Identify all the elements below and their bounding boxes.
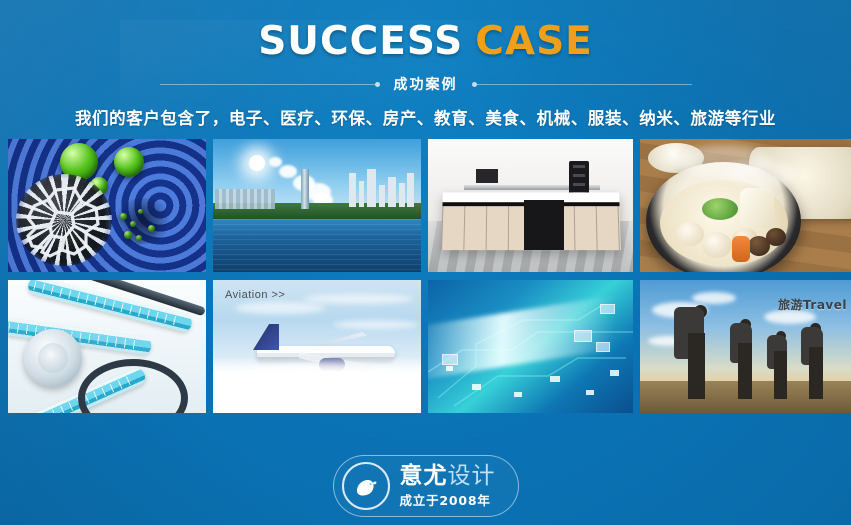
circuit-chip-4 bbox=[596, 342, 610, 352]
gallery-tile-aviation[interactable]: Aviation >> bbox=[213, 280, 421, 413]
stethoscope-chestpiece bbox=[24, 329, 82, 387]
smokestack bbox=[301, 169, 309, 209]
travel-caption: 旅游Travel bbox=[778, 296, 847, 313]
brand-name-light: 设计 bbox=[448, 463, 496, 489]
smoke-puff-4 bbox=[269, 157, 282, 167]
brand-established: 成立于2008年 bbox=[400, 495, 491, 508]
green-particle-4 bbox=[138, 209, 143, 214]
hiker-4 bbox=[798, 315, 832, 399]
sun-glow bbox=[249, 155, 265, 171]
aviation-caption: Aviation >> bbox=[225, 289, 285, 301]
stethoscope-loop bbox=[78, 359, 188, 413]
page-title: SUCCESSCASE bbox=[0, 22, 851, 61]
gallery-tile-travel[interactable]: 旅游Travel bbox=[640, 280, 851, 413]
tagline-text: 我们的客户包含了，电子、医疗、环保、房产、教育、美食、机械、服装、纳米、旅游等行… bbox=[0, 105, 851, 129]
food-chicken-2 bbox=[702, 232, 732, 258]
pixel-fleck-2 bbox=[472, 384, 481, 390]
circuit-chip-2 bbox=[574, 330, 592, 342]
gallery-tile-electronics[interactable] bbox=[428, 280, 633, 413]
green-particle-2 bbox=[130, 221, 136, 227]
medical-image bbox=[8, 280, 206, 413]
food-cabbage bbox=[740, 188, 774, 228]
city-skyline bbox=[215, 189, 275, 209]
pixel-fleck-1 bbox=[446, 366, 453, 371]
aviation-image: Aviation >> bbox=[213, 280, 421, 413]
footer-logo-area: 意尤设计 成立于2008年 bbox=[0, 455, 851, 517]
green-particle-3 bbox=[124, 231, 132, 239]
steam-cloud-2 bbox=[726, 161, 796, 187]
green-sphere-mid bbox=[114, 147, 144, 177]
industrial-plant bbox=[345, 167, 415, 207]
green-particle-5 bbox=[136, 235, 142, 241]
cloud-wisp-1 bbox=[235, 302, 325, 314]
pixel-fleck-3 bbox=[514, 392, 522, 397]
circuit-chip-1 bbox=[442, 354, 458, 365]
pixel-fleck-4 bbox=[550, 376, 560, 382]
hiker-2 bbox=[726, 311, 762, 399]
divider-line-left bbox=[160, 84, 375, 85]
wall-monitor bbox=[476, 169, 498, 183]
green-particle-1 bbox=[120, 213, 127, 220]
subtitle-chinese: 成功案例 bbox=[380, 74, 472, 94]
hiker-1 bbox=[672, 295, 720, 399]
brand-text: 意尤设计 成立于2008年 bbox=[400, 465, 496, 508]
food-chicken-1 bbox=[676, 222, 704, 246]
smoke-puff-3 bbox=[279, 165, 297, 178]
brand-name: 意尤设计 bbox=[400, 465, 496, 488]
gallery-tile-food[interactable] bbox=[640, 139, 851, 272]
food-mushroom-2 bbox=[766, 228, 786, 246]
divider-line-right bbox=[477, 84, 692, 85]
bench-cabinet-dark bbox=[524, 200, 564, 250]
buckyball-cage-icon bbox=[16, 174, 112, 266]
laboratory-furniture-image bbox=[428, 139, 633, 272]
case-gallery-grid: Aviation >> bbox=[0, 139, 851, 413]
cloud-band bbox=[213, 357, 421, 413]
electronics-image bbox=[428, 280, 633, 413]
bird-droplet-logo-icon bbox=[342, 462, 390, 510]
nano-shadow-smear bbox=[112, 198, 174, 244]
subtitle-ornament-row: 成功案例 bbox=[0, 74, 851, 94]
nanotechnology-image bbox=[8, 139, 206, 272]
airplane-tailfin bbox=[253, 324, 279, 350]
gallery-tile-environmental-protection[interactable] bbox=[213, 139, 421, 272]
pixel-fleck-6 bbox=[610, 370, 619, 376]
food-carrot bbox=[732, 236, 750, 262]
title-word-case: CASE bbox=[475, 19, 593, 64]
banner-header: SUCCESSCASE 成功案例 我们的客户包含了，电子、医疗、环保、房产、教育… bbox=[0, 0, 851, 129]
circuit-chip-3 bbox=[600, 304, 615, 314]
hiker-3 bbox=[764, 321, 796, 399]
gallery-tile-nanotechnology[interactable] bbox=[8, 139, 206, 272]
cloud-wisp-2 bbox=[303, 294, 413, 304]
success-case-banner: SUCCESSCASE 成功案例 我们的客户包含了，电子、医疗、环保、房产、教育… bbox=[0, 0, 851, 525]
gallery-tile-laboratory-furniture[interactable] bbox=[428, 139, 633, 272]
pixel-fleck-5 bbox=[586, 390, 594, 395]
food-hotpot-image bbox=[640, 139, 851, 272]
travel-image: 旅游Travel bbox=[640, 280, 851, 413]
environmental-protection-image bbox=[213, 139, 421, 272]
food-greens bbox=[702, 198, 738, 220]
brand-logo[interactable]: 意尤设计 成立于2008年 bbox=[333, 455, 519, 517]
gallery-tile-medical[interactable] bbox=[8, 280, 206, 413]
brand-name-bold: 意尤 bbox=[400, 463, 448, 489]
green-particle-6 bbox=[148, 225, 155, 232]
river-water bbox=[213, 219, 421, 272]
title-word-success: SUCCESS bbox=[258, 19, 463, 64]
